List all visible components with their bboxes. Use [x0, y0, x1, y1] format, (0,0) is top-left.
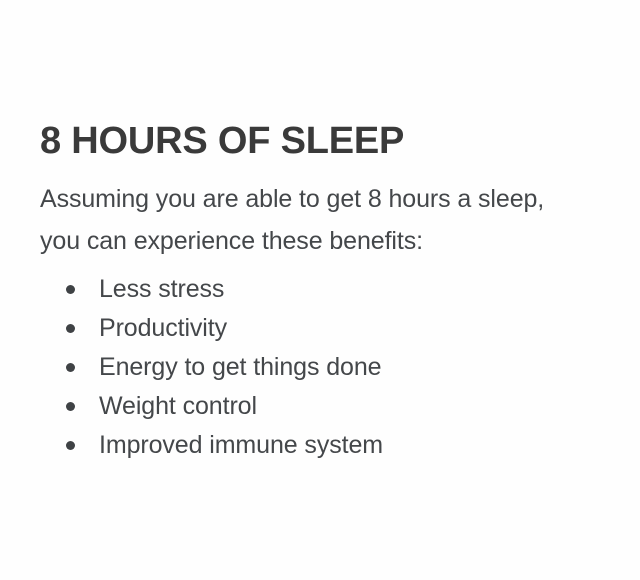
list-item-label: Productivity [99, 314, 227, 342]
list-item: Productivity [40, 309, 600, 348]
list-item-label: Less stress [99, 275, 224, 303]
sleep-benefits-slide: 8 HOURS OF SLEEP Assuming you are able t… [0, 0, 640, 580]
list-item: Less stress [40, 270, 600, 309]
bullet-dot-icon [66, 441, 75, 450]
page-title: 8 HOURS OF SLEEP [40, 118, 600, 164]
list-item: Weight control [40, 387, 600, 426]
list-item-label: Improved immune system [99, 431, 383, 459]
slide-content: 8 HOURS OF SLEEP Assuming you are able t… [40, 118, 600, 465]
bullet-dot-icon [66, 285, 75, 294]
benefits-list: Less stress Productivity Energy to get t… [40, 270, 600, 465]
bullet-dot-icon [66, 324, 75, 333]
list-item: Energy to get things done [40, 348, 600, 387]
list-item-label: Weight control [99, 392, 257, 420]
list-item-label: Energy to get things done [99, 353, 381, 381]
bullet-dot-icon [66, 402, 75, 411]
list-item: Improved immune system [40, 426, 600, 465]
intro-paragraph: Assuming you are able to get 8 hours a s… [40, 178, 570, 262]
bullet-dot-icon [66, 363, 75, 372]
